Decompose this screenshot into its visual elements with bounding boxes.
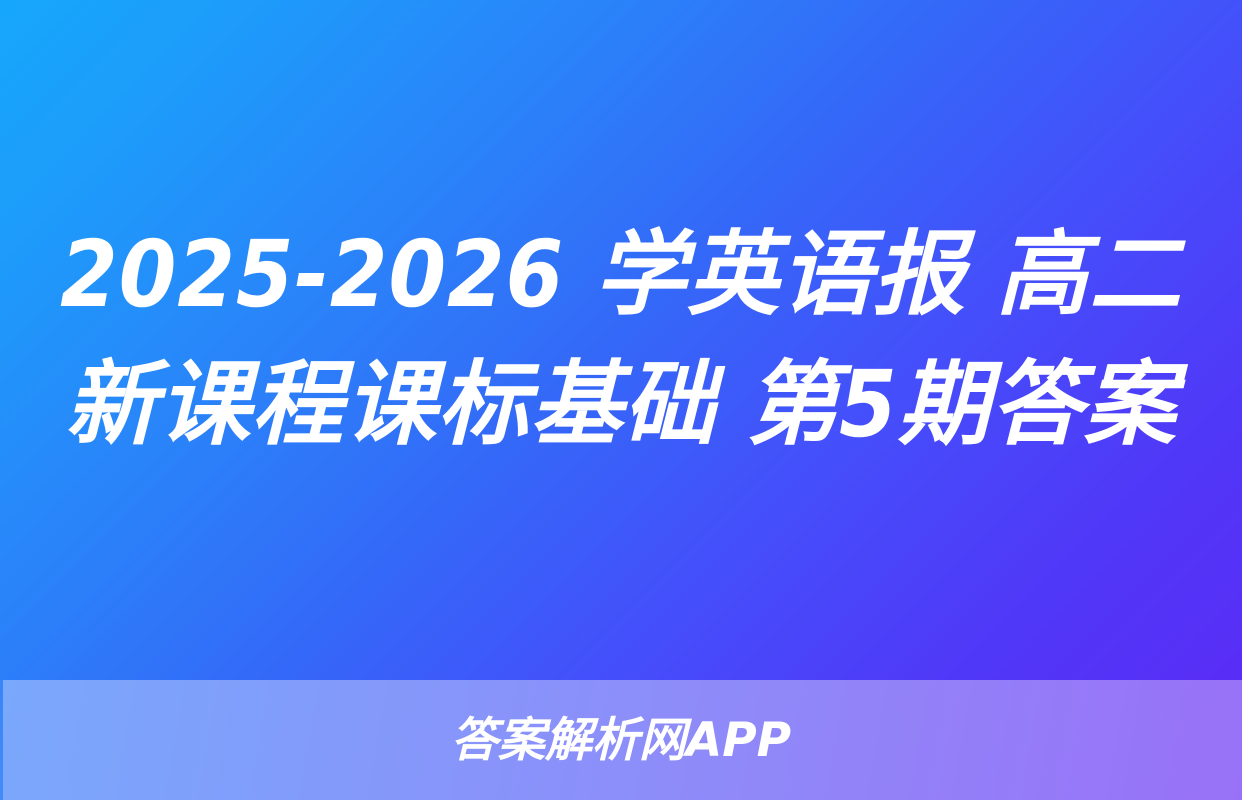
band-left-edge-accent xyxy=(0,680,3,800)
poster-canvas: 2025-2026 学英语报 高二 新课程课标基础 第5期答案 答案解析网APP xyxy=(0,0,1242,800)
watermark-band: 答案解析网APP xyxy=(0,680,1242,800)
page-title: 2025-2026 学英语报 高二 新课程课标基础 第5期答案 xyxy=(48,210,1194,470)
headline-container: 2025-2026 学英语报 高二 新课程课标基础 第5期答案 xyxy=(0,0,1242,680)
app-watermark-label: 答案解析网APP xyxy=(451,717,791,764)
